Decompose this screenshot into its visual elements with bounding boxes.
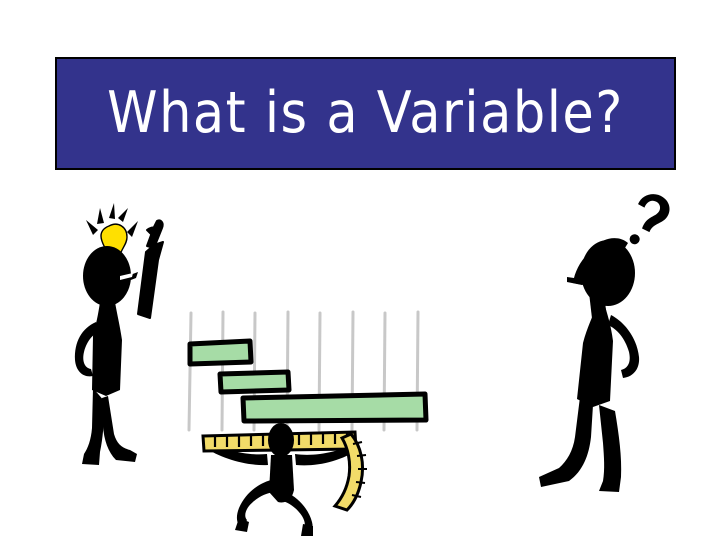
chart-bar-2 — [220, 372, 289, 392]
right-figure-leg-right — [599, 405, 621, 492]
right-figure-group — [525, 185, 685, 504]
right-figure-head — [581, 240, 635, 306]
right-figure-torso — [577, 303, 613, 407]
right-figure-leg-left — [539, 397, 593, 487]
left-figure-group — [62, 190, 197, 479]
left-figure-torso — [92, 302, 122, 396]
question-mark-icon — [629, 191, 673, 250]
left-figure-leg-left — [82, 388, 105, 465]
left-figure-leg-right — [102, 396, 137, 462]
page-title: What is a Variable? — [107, 85, 624, 142]
title-banner: What is a Variable? — [55, 57, 676, 170]
tape-figure-group — [195, 418, 390, 542]
chart-bar-1 — [190, 341, 251, 364]
chart-bar-3 — [243, 394, 426, 421]
tape-figure-foot-right — [301, 524, 313, 536]
tape-figure-head — [268, 423, 294, 457]
chart-bars — [190, 341, 426, 421]
slide-canvas: What is a Variable? — [0, 0, 728, 546]
raised-arm — [138, 220, 163, 318]
